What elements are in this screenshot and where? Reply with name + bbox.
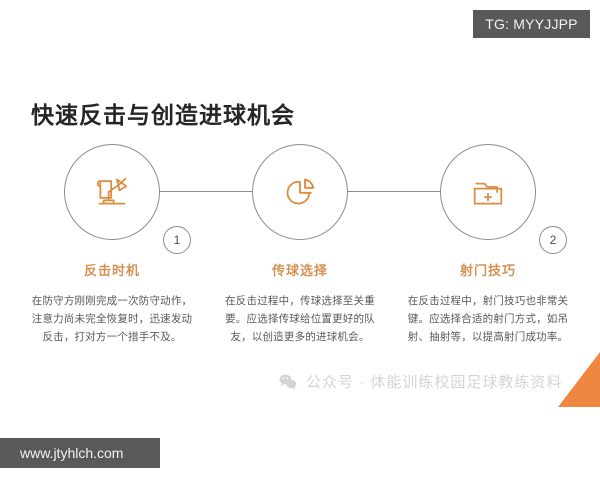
step-heading-3: 射门技巧 (394, 262, 582, 280)
step-text-column-2: 传球选择 在反击过程中，传球选择至关重要。应选择传球给位置更好的队友，以创造更多… (206, 262, 394, 346)
step-heading-2: 传球选择 (206, 262, 394, 280)
connector-line-1-2 (160, 191, 252, 192)
step-node-2[interactable]: 2 (252, 144, 348, 240)
step-body-3: 在反击过程中，射门技巧也非常关键。应选择合适的射门方式，如吊射、抽射等，以提高射… (394, 292, 582, 346)
wechat-watermark-text: 公众号 · 体能训练校园足球教练资料 (306, 371, 562, 392)
wechat-watermark: 公众号 · 体能训练校园足球教练资料 (278, 371, 562, 392)
step-text-column-1: 反击时机 在防守方刚刚完成一次防守动作，注意力尚未完全恢复时，迅速发动反击，打对… (18, 262, 206, 346)
wechat-icon (278, 372, 298, 392)
slide-canvas: TG: MYYJJPP 快速反击与创造进球机会 1 (0, 0, 600, 480)
step-text-column-3: 射门技巧 在反击过程中，射门技巧也非常关键。应选择合适的射门方式，如吊射、抽射等… (394, 262, 582, 346)
folder-plus-icon (468, 172, 508, 212)
step-node-1[interactable]: 1 (64, 144, 160, 240)
step-body-1: 在防守方刚刚完成一次防守动作，注意力尚未完全恢复时，迅速发动反击，打对方一个措手… (18, 292, 206, 346)
connector-line-2-3 (348, 191, 440, 192)
telegram-watermark-badge: TG: MYYJJPP (473, 10, 590, 38)
page-title: 快速反击与创造进球机会 (31, 96, 295, 130)
site-url-badge: www.jtyhlch.com (0, 438, 160, 468)
step-number-1: 1 (163, 226, 191, 254)
desk-lamp-icon (92, 172, 132, 212)
step-node-3[interactable]: 3 (440, 144, 536, 240)
process-diagram: 1 2 3 (0, 144, 600, 244)
step-number-2: 2 (539, 226, 567, 254)
step-heading-1: 反击时机 (18, 262, 206, 280)
corner-accent-triangle (558, 352, 600, 407)
step-body-2: 在反击过程中，传球选择至关重要。应选择传球给位置更好的队友，以创造更多的进球机会… (206, 292, 394, 346)
pie-chart-icon (280, 172, 320, 212)
